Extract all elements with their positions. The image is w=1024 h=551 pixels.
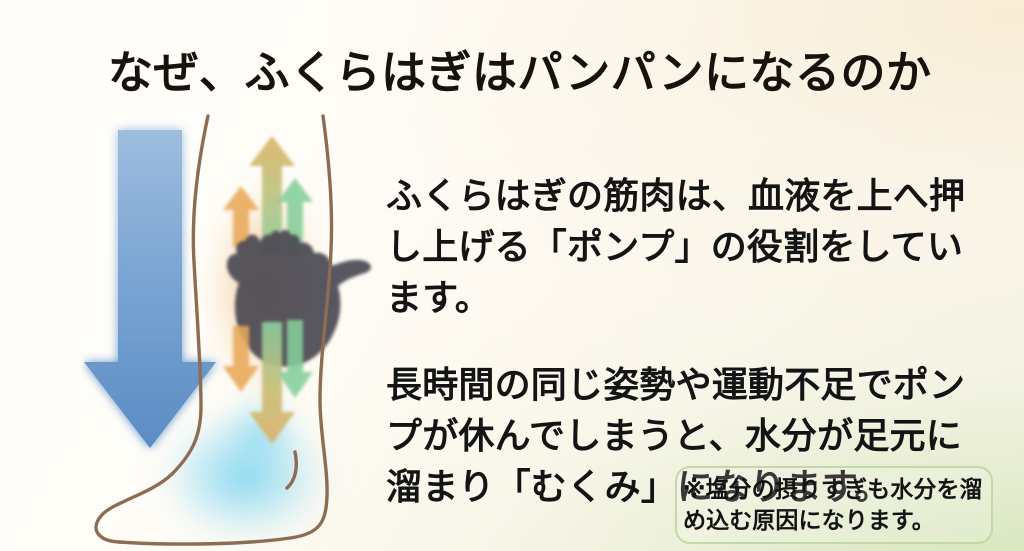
slide-root: なぜ、ふくらはぎはパンパンになるのか xyxy=(0,0,1024,551)
page-title: なぜ、ふくらはぎはパンパンになるのか xyxy=(108,36,938,101)
paragraph-pump-role: ふくらはぎの筋肉は、血液を上へ押し上げる「ポンプ」の役割をしています。 xyxy=(386,170,986,323)
note-text: ※塩分の摂りすぎも水分を溜め込む原因になります。 xyxy=(677,474,991,536)
cool-glow xyxy=(153,388,337,548)
note-box: ※塩分の摂りすぎも水分を溜め込む原因になります。 xyxy=(675,466,993,544)
leg-circulation-illustration xyxy=(82,104,392,551)
